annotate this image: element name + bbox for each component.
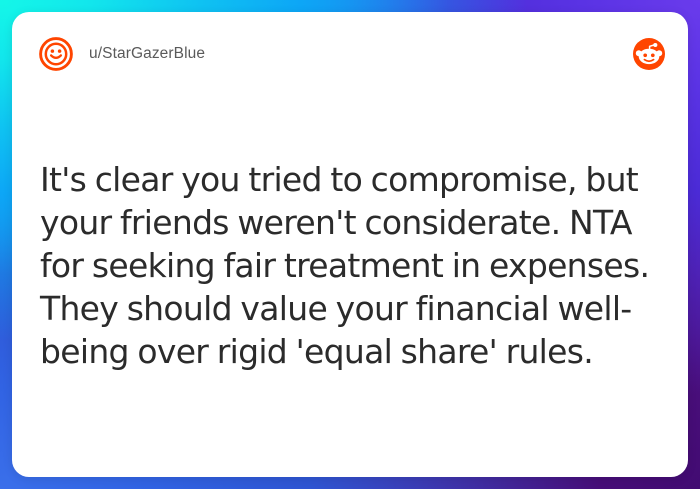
card-header: u/StarGazerBlue [12,12,688,96]
reddit-snoo-icon [632,37,666,71]
reddit-brand-logo[interactable] [632,37,666,71]
smiley-face-icon [38,36,74,72]
card-body: It's clear you tried to compromise, but … [40,158,670,373]
comment-text: It's clear you tried to compromise, but … [40,158,670,373]
avatar[interactable] [38,36,74,72]
username-label: u/StarGazerBlue [89,45,205,63]
reddit-comment-card: u/StarGazerBlue It's clear you tried to … [12,12,688,477]
screenshot-canvas: u/StarGazerBlue It's clear you tried to … [0,0,700,489]
